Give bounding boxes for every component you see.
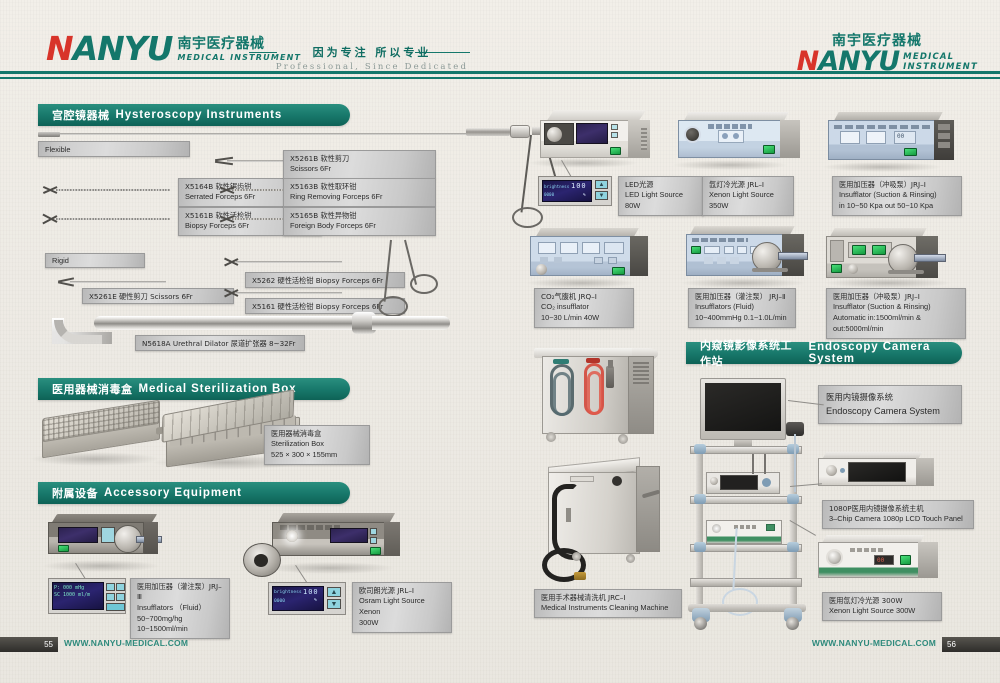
label-xenon-300w: 医用氙灯冷光源 300W Xenon Light Source 300W [822, 592, 942, 621]
label-rigid-group: Rigid [45, 253, 145, 268]
label-led-light-source: LED光源 LED Light Source 80W [618, 176, 704, 216]
website-left[interactable]: WWW.NANYU-MEDICAL.COM [64, 638, 188, 648]
cleaning-machine-image-2 [548, 452, 690, 580]
label-co2-insufflator: CO₂气腹机 JRQ–Ⅰ CO₂ insufflator 10~30 L/min… [534, 288, 634, 328]
website-right[interactable]: WWW.NANYU-MEDICAL.COM [812, 638, 936, 648]
forceps-image-2 [40, 214, 170, 224]
co2-insufflator-image [530, 228, 648, 282]
label-scissors-flexible: X5261B 软性剪刀 Scissors 6Fr [283, 150, 436, 179]
rigid-biopsy-forceps-image-1 [222, 257, 342, 267]
slogan-en: Professional, Since Dedicated [272, 62, 472, 72]
label-cleaning-machine: 医用手术器械清洗机 JRC–Ⅰ Medical Instruments Clea… [534, 589, 682, 618]
xenon-light-source-image [678, 112, 798, 162]
section-accessory-cn: 附属设备 [52, 485, 98, 501]
label-auto-insufflator: 医用加压器（冲吸泵）JRJ–Ⅰ Insufflator (Suction & R… [826, 288, 966, 339]
label-flexible-group: Flexible [38, 141, 190, 157]
label-insufflator-suction-rinsing: 医用加压器（冲吸泵）JRJ–Ⅰ Insufflator (Suction & R… [832, 176, 962, 216]
osram-light-source-image [272, 512, 407, 566]
page-number-left: 55 [0, 637, 58, 652]
section-header-hysteroscopy: 宫腔镜器械 Hysteroscopy Instruments [38, 104, 350, 126]
light-guide-adapter-image [243, 543, 283, 583]
led-display-closeup: brightness 100 0000 % ▲ ▼ [538, 176, 612, 206]
label-rigid-biopsy-1: X5262 硬性活检钳 Biopsy Forceps 6Fr [245, 272, 405, 288]
label-accessory-insufflator: 医用加压器（灌注泵）JRJ–Ⅲ Insufflators （Fluid） 50~… [130, 578, 230, 639]
label-foreign-body-forceps: X5165B 软性异物钳 Foreign Body Forceps 6Fr [283, 207, 436, 236]
insufflator-pump-image [48, 512, 166, 564]
section-header-accessory: 附属设备 Accessory Equipment [38, 482, 350, 504]
label-fluid-insufflator: 医用加压器（灌注泵） JRJ–Ⅱ Insufflators (Fluid) 10… [688, 288, 796, 328]
section-hysteroscopy-en: Hysteroscopy Instruments [116, 109, 283, 121]
label-urethral-dilator: N5618A Urethral Dilator 尿道扩张器 8~32Fr [135, 335, 305, 351]
section-accessory-en: Accessory Equipment [104, 487, 242, 499]
logo-letters-anyu: ANYU [73, 29, 173, 68]
label-xenon-light-source: 氙灯冷光源 JRL–Ⅰ Xenon Light Source 350W [702, 176, 794, 216]
section-hysteroscopy-cn: 宫腔镜器械 [52, 107, 110, 123]
logo-primary: NANYU 南宇医疗器械 MEDICAL INSTRUMENT [46, 32, 301, 65]
section-camera-cn: 内窥镜影像系统工作站 [700, 337, 803, 369]
page-footer: 55 WWW.NANYU-MEDICAL.COM WWW.NANYU-MEDIC… [0, 637, 1000, 655]
xenon-300w-image: 00 [818, 535, 942, 587]
section-camera-en: Endoscopy Camera System [809, 341, 962, 365]
flexible-hysteroscope-image [38, 131, 468, 137]
label-accessory-osram: 欧司朗光源 JRL–Ⅰ Osram Light Source Xenon 300… [352, 582, 452, 633]
label-camera-system-main: 医用内镜摄像系统 Endoscopy Camera System [818, 385, 962, 424]
logo2-instrument: INSTRUMENT [903, 63, 978, 73]
logo-secondary: 南宇医疗器械 NANYU MEDICAL INSTRUMENT [797, 30, 978, 75]
rigid-scissors-image [58, 277, 166, 287]
section-sterilization-cn: 医用器械消毒盒 [52, 381, 133, 397]
led-light-source-image [540, 110, 655, 162]
insufflator-suction-rinsing-image: 00 [828, 112, 953, 164]
label-sterilization-box: 医用器械消毒盒 Sterilization Box 525 × 300 × 15… [264, 425, 370, 465]
slogan-block: 因为专注 所以专业 Professional, Since Dedicated [272, 44, 472, 72]
chip-camera-image [818, 452, 938, 492]
cleaning-machine-image-1 [534, 348, 674, 453]
rigid-biopsy-forceps-image-2 [222, 288, 342, 298]
fluid-insufflator-image [686, 226, 816, 282]
label-ring-forceps: X5163B 软性取环钳 Ring Removing Forceps 6Fr [283, 178, 436, 207]
monitor-image [700, 378, 796, 452]
page-header: NANYU 南宇医疗器械 MEDICAL INSTRUMENT 因为专注 所以专… [0, 0, 1000, 80]
osram-display-closeup: brightness 100 0000 % ▲ ▼ [268, 582, 346, 615]
label-chip-camera: 1080P医用内镜摄像系统主机 3–Chip Camera 1080p LCD … [822, 500, 974, 529]
header-rule-thin [0, 77, 1000, 79]
logo-letter-n: N [46, 29, 73, 68]
section-header-camera: 内窥镜影像系统工作站 Endoscopy Camera System [686, 342, 962, 364]
sterilization-box-image-1 [38, 407, 168, 462]
auto-insufflator-image [826, 228, 958, 282]
logo2-letter-n: N [797, 46, 819, 77]
section-header-sterilization: 医用器械消毒盒 Medical Sterilization Box [38, 378, 350, 400]
forceps-image-1 [40, 185, 170, 195]
endoscopy-trolley-image [690, 444, 814, 630]
page-number-right: 56 [942, 637, 1000, 652]
logo2-wordmark: NANYU [797, 48, 900, 75]
logo-wordmark: NANYU [46, 32, 172, 65]
logo2-letters-anyu: ANYU [818, 46, 899, 77]
insufflator-display-closeup: P: 000 mHg SC 1000 ml/m [48, 578, 126, 614]
slogan-cn: 因为专注 所以专业 [272, 44, 472, 60]
